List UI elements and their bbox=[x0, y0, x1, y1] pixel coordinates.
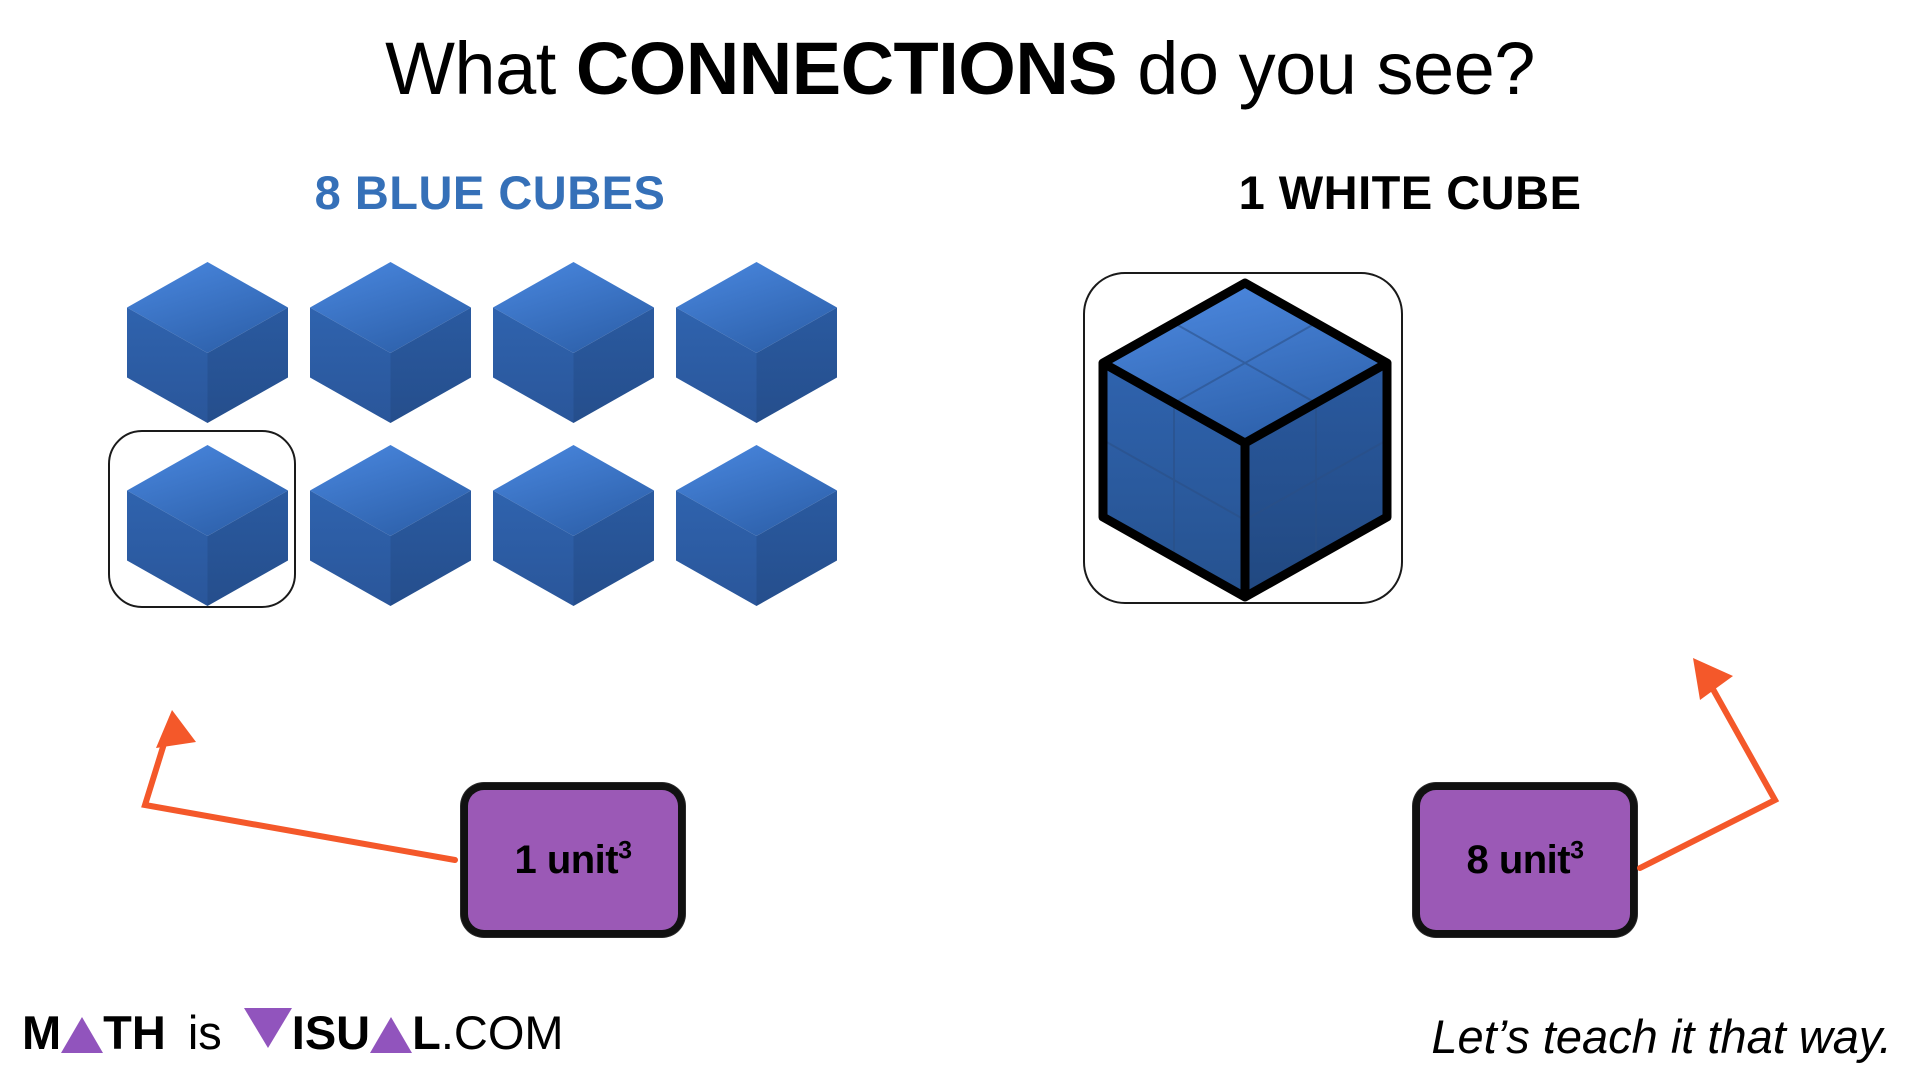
arrow-left-head bbox=[156, 710, 196, 748]
cube-item bbox=[486, 255, 661, 430]
isometric-cube-icon bbox=[669, 255, 844, 430]
isometric-cube-icon bbox=[303, 255, 478, 430]
triangle-down-icon bbox=[244, 1008, 292, 1048]
left-panel-heading: 8 BLUE CUBES bbox=[100, 165, 880, 220]
title-prefix: What bbox=[385, 27, 576, 110]
cube-item bbox=[303, 438, 478, 613]
triangle-up-icon-2 bbox=[370, 1017, 412, 1053]
callout-left-value: 1 unit bbox=[514, 838, 618, 882]
cube-item bbox=[303, 255, 478, 430]
arrow-right-head bbox=[1693, 658, 1733, 700]
callout-one-unit-cubed: 1 unit3 bbox=[468, 790, 678, 930]
isometric-cube-icon bbox=[303, 438, 478, 613]
logo-letters-isu: ISU bbox=[292, 1005, 370, 1060]
arrow-left bbox=[145, 718, 455, 860]
isometric-cube-icon bbox=[120, 255, 295, 430]
callout-right-exponent: 3 bbox=[1570, 836, 1583, 864]
title-emphasis: CONNECTIONS bbox=[576, 27, 1117, 110]
site-logo: MTHisISUL.COM bbox=[22, 1002, 564, 1062]
cube-item bbox=[669, 438, 844, 613]
title-suffix: do you see? bbox=[1117, 27, 1535, 110]
isometric-cube-icon bbox=[486, 255, 661, 430]
page-title: What CONNECTIONS do you see? bbox=[0, 26, 1920, 111]
cube-item bbox=[120, 255, 295, 430]
logo-letters-th: TH bbox=[103, 1005, 166, 1060]
logo-letter-m: M bbox=[22, 1005, 61, 1060]
triangle-up-icon bbox=[61, 1017, 103, 1053]
logo-tld: .COM bbox=[441, 1005, 564, 1060]
arrow-right bbox=[1640, 666, 1775, 868]
isometric-cube-icon bbox=[669, 438, 844, 613]
cube-item bbox=[669, 255, 844, 430]
isometric-cube-icon bbox=[486, 438, 661, 613]
logo-letter-l: L bbox=[412, 1005, 441, 1060]
cube-item bbox=[486, 438, 661, 613]
footer-tagline: Let’s teach it that way. bbox=[1431, 1009, 1892, 1064]
right-panel-heading: 1 WHITE CUBE bbox=[1020, 165, 1800, 220]
callout-left-exponent: 3 bbox=[618, 836, 631, 864]
highlight-outline-composite-cube bbox=[1083, 272, 1403, 604]
callout-eight-unit-cubed: 8 unit3 bbox=[1420, 790, 1630, 930]
highlight-outline-single-cube bbox=[108, 430, 296, 608]
callout-right-value: 8 unit bbox=[1466, 838, 1570, 882]
logo-word-is: is bbox=[188, 1005, 222, 1060]
